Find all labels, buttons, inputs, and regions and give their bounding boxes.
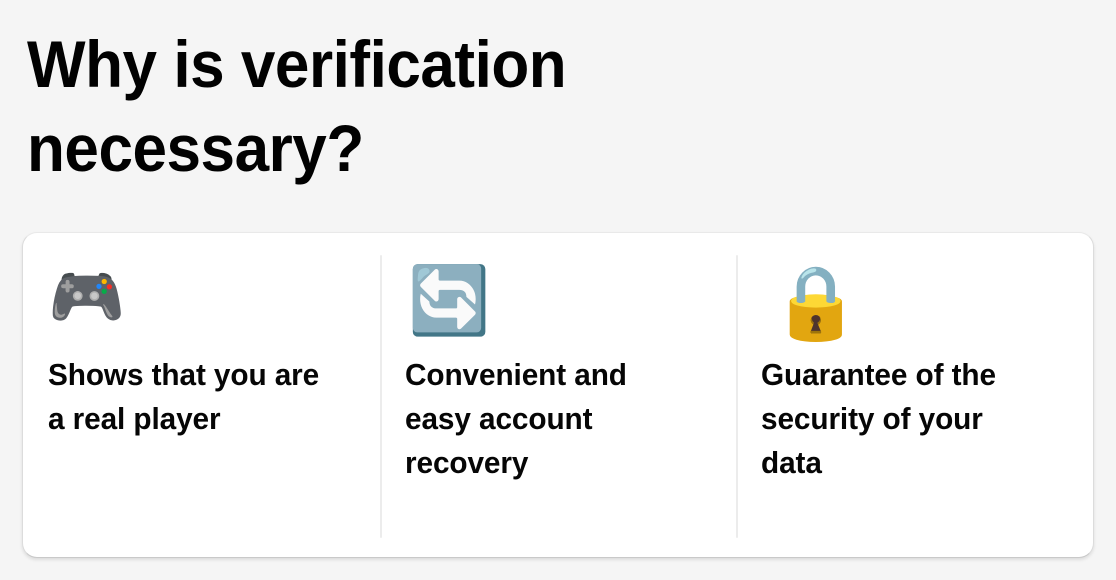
page-title: Why is verification necessary? — [27, 22, 741, 190]
game-controller-icon: 🎮 — [48, 267, 125, 353]
feature-label: Shows that you are a real player — [48, 353, 336, 441]
feature-column-data-security: 🔒 Guarantee of the security of your data — [736, 233, 1093, 557]
feature-column-real-player: 🎮 Shows that you are a real player — [23, 233, 380, 557]
feature-column-account-recovery: 🔄 Convenient and easy account recovery — [380, 233, 736, 557]
refresh-arrows-icon: 🔄 — [408, 267, 490, 353]
features-card: 🎮 Shows that you are a real player 🔄 Con… — [22, 232, 1094, 558]
padlock-closed-icon: 🔒 — [771, 267, 861, 353]
feature-label: Guarantee of the security of your data — [761, 353, 1049, 485]
feature-label: Convenient and easy account recovery — [405, 353, 693, 485]
